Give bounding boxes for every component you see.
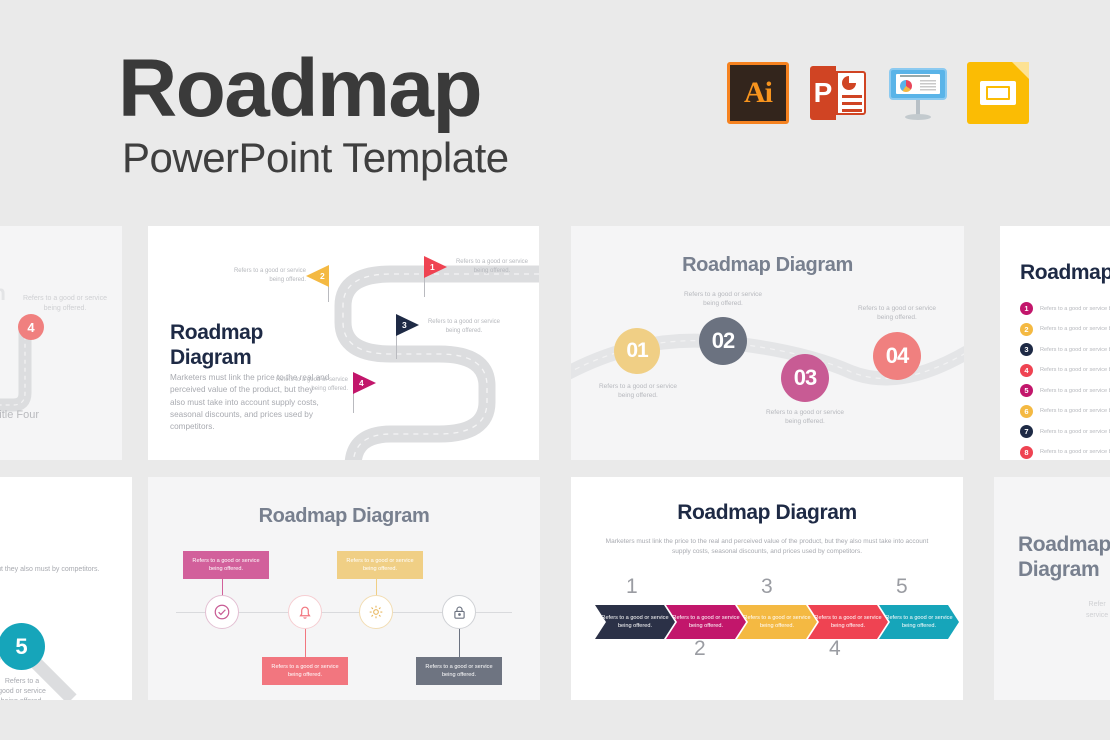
caption-four: Refers to a good or service being offere… bbox=[19, 294, 111, 314]
step-marker-4-number: 4 bbox=[27, 320, 34, 335]
chevron-step-2[interactable]: Refers to a good or service being offere… bbox=[666, 605, 746, 639]
chevron-step-1[interactable]: Refers to a good or service being offere… bbox=[595, 605, 675, 639]
slide-title-line1: Roadmap bbox=[1018, 532, 1110, 557]
list-item-number: 8 bbox=[1020, 446, 1033, 459]
flag-3-caption: Refers to a good or service being offere… bbox=[422, 318, 506, 335]
ppt-label: P bbox=[814, 77, 833, 109]
chevron-number-4: 4 bbox=[829, 637, 841, 661]
list-item[interactable]: 4 Refers to a good or service being bbox=[1020, 364, 1110, 377]
adobe-illustrator-icon: Ai bbox=[727, 62, 789, 124]
list-item[interactable]: 5 Refers to a good or service being bbox=[1020, 384, 1110, 397]
list-item-text: Refers to a good or service being bbox=[1040, 306, 1110, 312]
flag-2[interactable] bbox=[306, 265, 329, 287]
chevron-step-5[interactable]: Refers to a good or service being offere… bbox=[879, 605, 959, 639]
chevron-step-4[interactable]: Refers to a good or service being offere… bbox=[808, 605, 888, 639]
step-04-caption: Refers to a good or service being offere… bbox=[851, 304, 943, 323]
keynote-pie-icon bbox=[900, 80, 912, 92]
list-item-number: 1 bbox=[1020, 302, 1033, 315]
page-header: Roadmap PowerPoint Template Ai P bbox=[0, 0, 1110, 210]
keynote-icon bbox=[887, 62, 949, 124]
list-item-text: Refers to a good or service being bbox=[1040, 429, 1110, 435]
slide-caption-fragment: Refer service bbox=[1086, 600, 1108, 621]
node-3-label[interactable]: Refers to a good or service being offere… bbox=[337, 551, 423, 579]
slide-numbered-list[interactable]: Roadmap 1 Refers to a good or service be… bbox=[1000, 226, 1110, 460]
gs-page-fold bbox=[1012, 62, 1029, 79]
label-title-four: Title Four bbox=[0, 409, 39, 421]
slide-title: Roadmap Diagram bbox=[148, 505, 540, 528]
step-03-caption: Refers to a good or service being offere… bbox=[759, 408, 851, 427]
step-01-caption: Refers to a good or service being offere… bbox=[592, 382, 684, 401]
list-item-number: 5 bbox=[1020, 384, 1033, 397]
list-item-text: Refers to a good or service being bbox=[1040, 367, 1110, 373]
slide-title: Roadmap Diagram bbox=[571, 254, 964, 277]
step-5-caption: Refers to a good or service being offere… bbox=[0, 677, 66, 700]
slide-title: Roadmap bbox=[1020, 261, 1110, 285]
node-2-label[interactable]: Refers to a good or service being offere… bbox=[262, 657, 348, 685]
caption-line-2: good or service bbox=[0, 687, 66, 697]
list-item[interactable]: 1 Refers to a good or service being bbox=[1020, 302, 1110, 315]
slide-roadmap-diagram-partial[interactable]: Roadmap Diagram Refer service bbox=[994, 477, 1110, 700]
slide-title: Roadmap Diagram bbox=[571, 501, 963, 525]
step-circle-04-label: 04 bbox=[886, 343, 908, 369]
step-marker-4[interactable]: 4 bbox=[18, 314, 44, 340]
keynote-slide-preview bbox=[896, 74, 940, 94]
page-subtitle: PowerPoint Template bbox=[122, 134, 509, 182]
slide-stairs-partial[interactable]: n or red. Refers to a good or service be… bbox=[0, 226, 122, 460]
step-marker-5[interactable]: 5 bbox=[0, 623, 45, 670]
node-4-circle[interactable] bbox=[442, 595, 476, 629]
node-4-label[interactable]: Refers to a good or service being offere… bbox=[416, 657, 502, 685]
flag-1[interactable] bbox=[424, 256, 447, 278]
slide-title-line2: Diagram bbox=[1018, 557, 1110, 582]
gs-slide-frame bbox=[980, 81, 1016, 105]
chevron-step-3[interactable]: Refers to a good or service being offere… bbox=[737, 605, 817, 639]
list-item-text: Refers to a good or service being bbox=[1040, 449, 1110, 455]
gear-icon bbox=[367, 603, 385, 621]
list-item[interactable]: 8 Refers to a good or service being bbox=[1020, 446, 1110, 459]
chevron-number-1: 1 bbox=[626, 575, 638, 599]
ppt-right-panel bbox=[836, 71, 866, 115]
chevron-number-2: 2 bbox=[694, 637, 706, 661]
keynote-base bbox=[905, 114, 931, 120]
ai-label: Ai bbox=[744, 76, 772, 110]
list-item-text: Refers to a good or service being bbox=[1040, 388, 1110, 394]
step-circle-01[interactable]: 01 bbox=[614, 328, 660, 374]
bell-icon bbox=[296, 603, 314, 621]
list-item[interactable]: 7 Refers to a good or service being bbox=[1020, 425, 1110, 438]
flag-3[interactable] bbox=[396, 314, 419, 336]
ppt-line-1 bbox=[842, 95, 862, 98]
chevron-number-5: 5 bbox=[896, 575, 908, 599]
lock-icon bbox=[451, 604, 468, 621]
step-circle-02[interactable]: 02 bbox=[699, 317, 747, 365]
slide-title: Roadmap Diagram bbox=[1018, 532, 1110, 582]
step-marker-5-number: 5 bbox=[15, 634, 27, 660]
page-title: Roadmap bbox=[118, 50, 509, 128]
slide-icon-timeline[interactable]: Roadmap Diagram Refers to a good or serv… bbox=[148, 477, 540, 700]
flag-2-number: 2 bbox=[320, 271, 325, 281]
ppt-line-2 bbox=[842, 102, 862, 105]
list-item-number: 7 bbox=[1020, 425, 1033, 438]
node-1-label[interactable]: Refers to a good or service being offere… bbox=[183, 551, 269, 579]
caption-left-edge: or red. bbox=[0, 294, 11, 304]
caption-line-1: Refer bbox=[1086, 600, 1108, 611]
slide-four-circles[interactable]: Roadmap Diagram 01 Refers to a good or s… bbox=[571, 226, 964, 460]
slide-peak-partial[interactable]: n uct, but they also must by competitors… bbox=[0, 477, 132, 700]
flag-2-caption: Refers to a good or service being offere… bbox=[231, 267, 306, 284]
keynote-title-bar bbox=[900, 75, 930, 77]
slide-body-fragment: uct, but they also must by competitors. bbox=[0, 565, 130, 576]
check-circle-icon bbox=[213, 603, 231, 621]
caption-line-2: service bbox=[1086, 611, 1108, 622]
title-block: Roadmap PowerPoint Template bbox=[118, 50, 509, 182]
chevron-number-3: 3 bbox=[761, 575, 773, 599]
step-circle-03-label: 03 bbox=[794, 365, 816, 391]
list-item[interactable]: 6 Refers to a good or service being bbox=[1020, 405, 1110, 418]
powerpoint-icon: P bbox=[807, 62, 869, 124]
flag-4-number: 4 bbox=[359, 378, 364, 388]
node-3-circle[interactable] bbox=[359, 595, 393, 629]
slide-chevron-arrows[interactable]: Roadmap Diagram Marketers must link the … bbox=[571, 477, 963, 700]
node-2-circle[interactable] bbox=[288, 595, 322, 629]
step-circle-03[interactable]: 03 bbox=[781, 354, 829, 402]
step-circle-02-label: 02 bbox=[712, 328, 734, 354]
step-circle-01-label: 01 bbox=[626, 339, 647, 363]
slide-body-text: Marketers must link the price to the rea… bbox=[604, 537, 930, 558]
flag-4-caption: Refers to a good or service being offere… bbox=[260, 376, 348, 393]
caption-line-3: being offered. bbox=[0, 697, 66, 700]
flag-1-caption: Refers to a good or service being offere… bbox=[450, 258, 534, 275]
flag-4[interactable] bbox=[353, 372, 376, 394]
flag-1-number: 1 bbox=[430, 262, 435, 272]
flag-3-number: 3 bbox=[402, 320, 407, 330]
step-02-caption: Refers to a good or service being offere… bbox=[677, 290, 769, 309]
list-item-number: 3 bbox=[1020, 343, 1033, 356]
keynote-screen bbox=[889, 68, 947, 100]
list-item-text: Refers to a good or service being bbox=[1040, 408, 1110, 414]
format-icon-row: Ai P bbox=[727, 62, 1029, 124]
list-item[interactable]: 2 Refers to a good or service being bbox=[1020, 323, 1110, 336]
numbered-list: 1 Refers to a good or service being 2 Re… bbox=[1020, 302, 1110, 460]
step-circle-04[interactable]: 04 bbox=[873, 332, 921, 380]
list-item-text: Refers to a good or service being bbox=[1040, 347, 1110, 353]
ppt-pie-chart-icon bbox=[842, 76, 856, 90]
list-item-number: 6 bbox=[1020, 405, 1033, 418]
google-slides-icon bbox=[967, 62, 1029, 124]
node-1-circle[interactable] bbox=[205, 595, 239, 629]
list-item-number: 4 bbox=[1020, 364, 1033, 377]
caption-line-1: Refers to a bbox=[0, 677, 66, 687]
ppt-left-panel: P bbox=[810, 66, 836, 120]
list-item-text: Refers to a good or service being bbox=[1040, 326, 1110, 332]
keynote-text-lines bbox=[920, 80, 936, 92]
list-item[interactable]: 3 Refers to a good or service being bbox=[1020, 343, 1110, 356]
slide-winding-road[interactable]: Roadmap Diagram Marketers must link the … bbox=[148, 226, 539, 460]
list-item-number: 2 bbox=[1020, 323, 1033, 336]
ppt-line-3 bbox=[842, 109, 862, 112]
